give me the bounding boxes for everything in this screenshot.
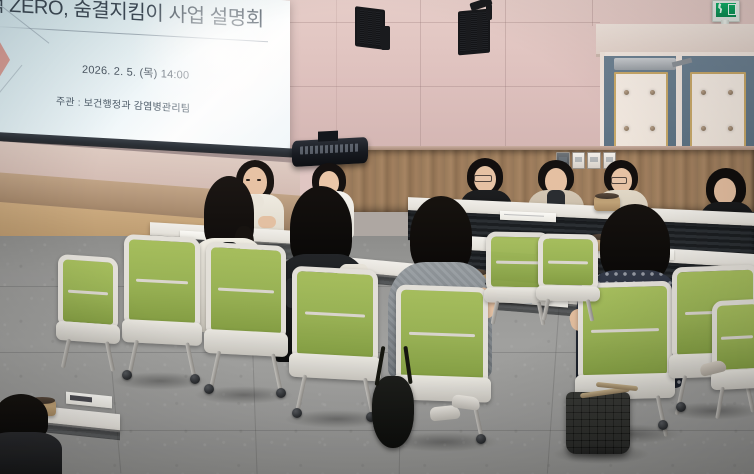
meeting-room-photo: 핵 ZERO, 숨결지킴이 사업 설명회 2026. 2. 5. (목) 14:…: [0, 0, 754, 474]
chair-3[interactable]: [292, 266, 378, 421]
chair-back: [206, 242, 286, 339]
chair-shadow: [112, 372, 208, 390]
chair-10[interactable]: [58, 254, 118, 374]
chair-back: [124, 234, 200, 328]
bag-shadow: [552, 444, 650, 464]
speaker-grill: [460, 12, 488, 52]
chair-base: [714, 385, 754, 421]
person-left-front-partial: [0, 394, 60, 474]
chair-base: [540, 298, 595, 324]
hanging-tote-bag[interactable]: [372, 376, 414, 448]
exit-sign: [712, 0, 740, 22]
speaker-bracket-right-stem: [486, 4, 492, 20]
door-closer-arm: [614, 58, 676, 70]
screen-glare: [120, 0, 290, 156]
projector-mount: [318, 131, 338, 142]
projection-screen: 핵 ZERO, 숨결지킴이 사업 설명회 2026. 2. 5. (목) 14:…: [0, 0, 290, 156]
speaker-grill: [357, 9, 383, 46]
chair-back: [58, 254, 118, 330]
chair-back: [292, 266, 378, 364]
projector-label: [300, 143, 360, 154]
chair-shadow: [194, 386, 294, 404]
chair-2[interactable]: [206, 242, 286, 396]
speaker-bracket-left: [381, 26, 390, 50]
chair-8[interactable]: [538, 233, 598, 324]
chair-back: [538, 233, 598, 290]
exit-door-icon: [728, 4, 736, 15]
wall-seam: [336, 0, 337, 150]
chair-1[interactable]: [124, 234, 200, 384]
chair-base: [60, 338, 115, 374]
